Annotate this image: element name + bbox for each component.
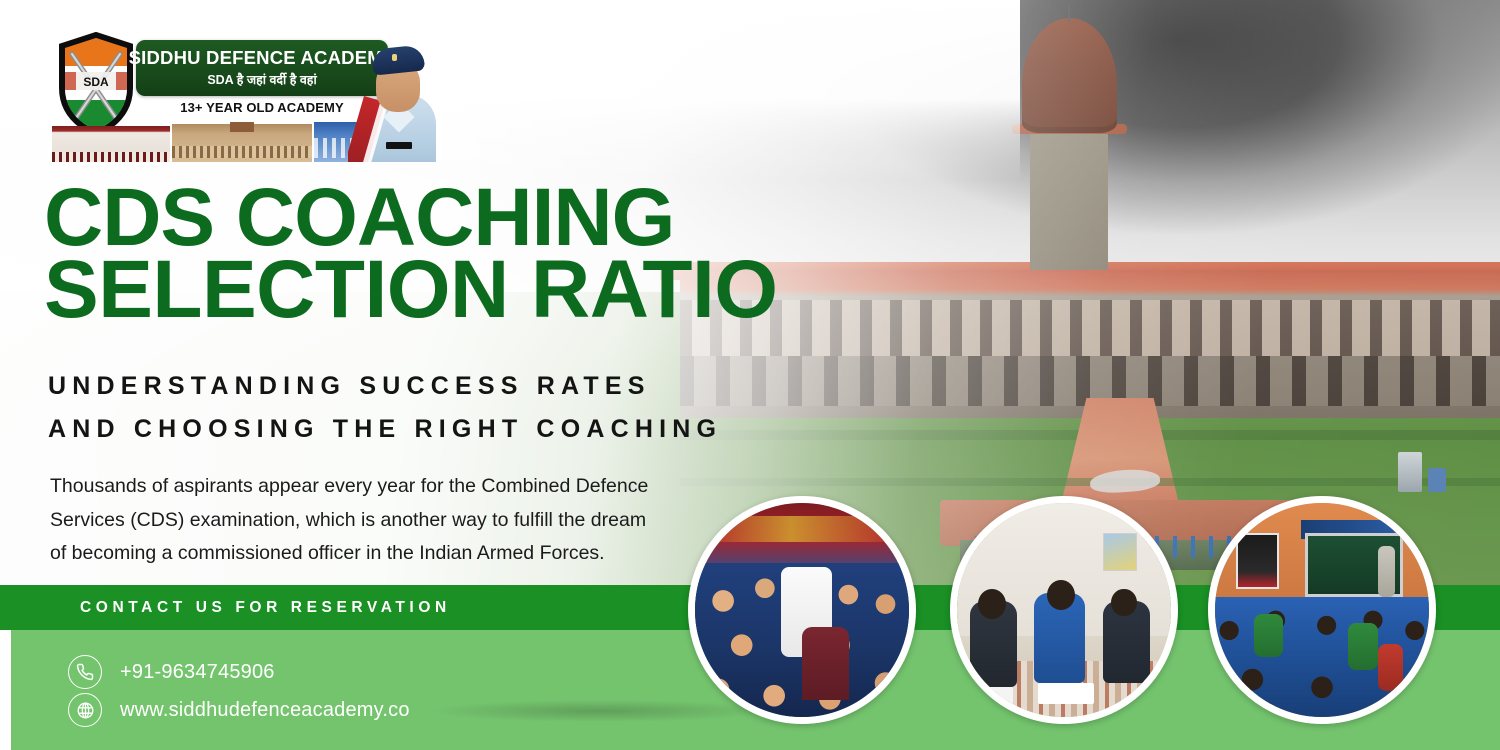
- classroom-student-green-1: [1254, 614, 1284, 657]
- globe-icon: [68, 693, 102, 727]
- study-student-3-head: [1111, 589, 1137, 617]
- photo-classroom: [1208, 496, 1436, 724]
- skyline-tan-building: [172, 124, 312, 162]
- body-line-2: Services (CDS) examination, which is ano…: [50, 504, 720, 538]
- contact-row-phone[interactable]: +91-9634745906: [68, 655, 275, 689]
- poster-root: SDA SIDDHU DEFENCE ACADEMY SDA है जहां व…: [0, 0, 1500, 750]
- contact-banner-label: CONTACT US FOR RESERVATION: [80, 585, 451, 630]
- subhead-line-1: UNDERSTANDING SUCCESS RATES: [48, 365, 998, 408]
- classroom-student-green-2: [1348, 623, 1378, 670]
- phone-icon: [68, 655, 102, 689]
- skyline-dome: [230, 122, 254, 132]
- academy-logo-banner[interactable]: SDA SIDDHU DEFENCE ACADEMY SDA है जहां व…: [48, 30, 442, 162]
- study-notebook-secondary: [974, 687, 1013, 704]
- contact-row-website[interactable]: www.siddhudefenceacademy.co: [68, 693, 410, 727]
- svg-text:SDA: SDA: [83, 75, 109, 89]
- study-room-poster: [1103, 533, 1137, 572]
- classroom-instructor: [1378, 546, 1395, 597]
- headline-line-2: SELECTION RATIO: [44, 254, 944, 326]
- website-url[interactable]: www.siddhudefenceacademy.co: [120, 699, 410, 722]
- cadet-cap-badge-icon: [392, 54, 397, 61]
- skyline-red-building: [52, 126, 170, 162]
- celebration-stage-banner: [695, 516, 909, 542]
- phone-number[interactable]: +91-9634745906: [120, 661, 275, 684]
- cadet-nameplate: [386, 142, 412, 149]
- body-line-3: of becoming a commissioned officer in th…: [50, 537, 720, 571]
- study-open-notebook: [1038, 683, 1094, 704]
- photo-celebration: [688, 496, 916, 724]
- cadet-portrait: [348, 30, 442, 162]
- body-line-1: Thousands of aspirants appear every year…: [50, 470, 720, 504]
- body-paragraph: Thousands of aspirants appear every year…: [50, 470, 720, 571]
- photo-classroom-content: [1215, 503, 1429, 717]
- classroom-academy-poster: [1236, 533, 1279, 589]
- celebration-attendee: [802, 627, 849, 700]
- page-subtitle: UNDERSTANDING SUCCESS RATES AND CHOOSING…: [48, 365, 998, 451]
- subhead-line-2: AND CHOOSING THE RIGHT COACHING: [48, 408, 998, 451]
- classroom-backpack: [1378, 644, 1404, 691]
- academy-tagline-hindi: SDA है जहां वर्दी है वहां: [207, 71, 316, 88]
- study-student-2-head: [1047, 580, 1075, 610]
- photo-study-content: [957, 503, 1171, 717]
- cadet-side-cap: [371, 44, 425, 75]
- photo-celebration-content: [695, 503, 909, 717]
- photo-study-session: [950, 496, 1178, 724]
- study-student-1-head: [978, 589, 1006, 619]
- page-title: CDS COACHING SELECTION RATIO: [44, 182, 944, 326]
